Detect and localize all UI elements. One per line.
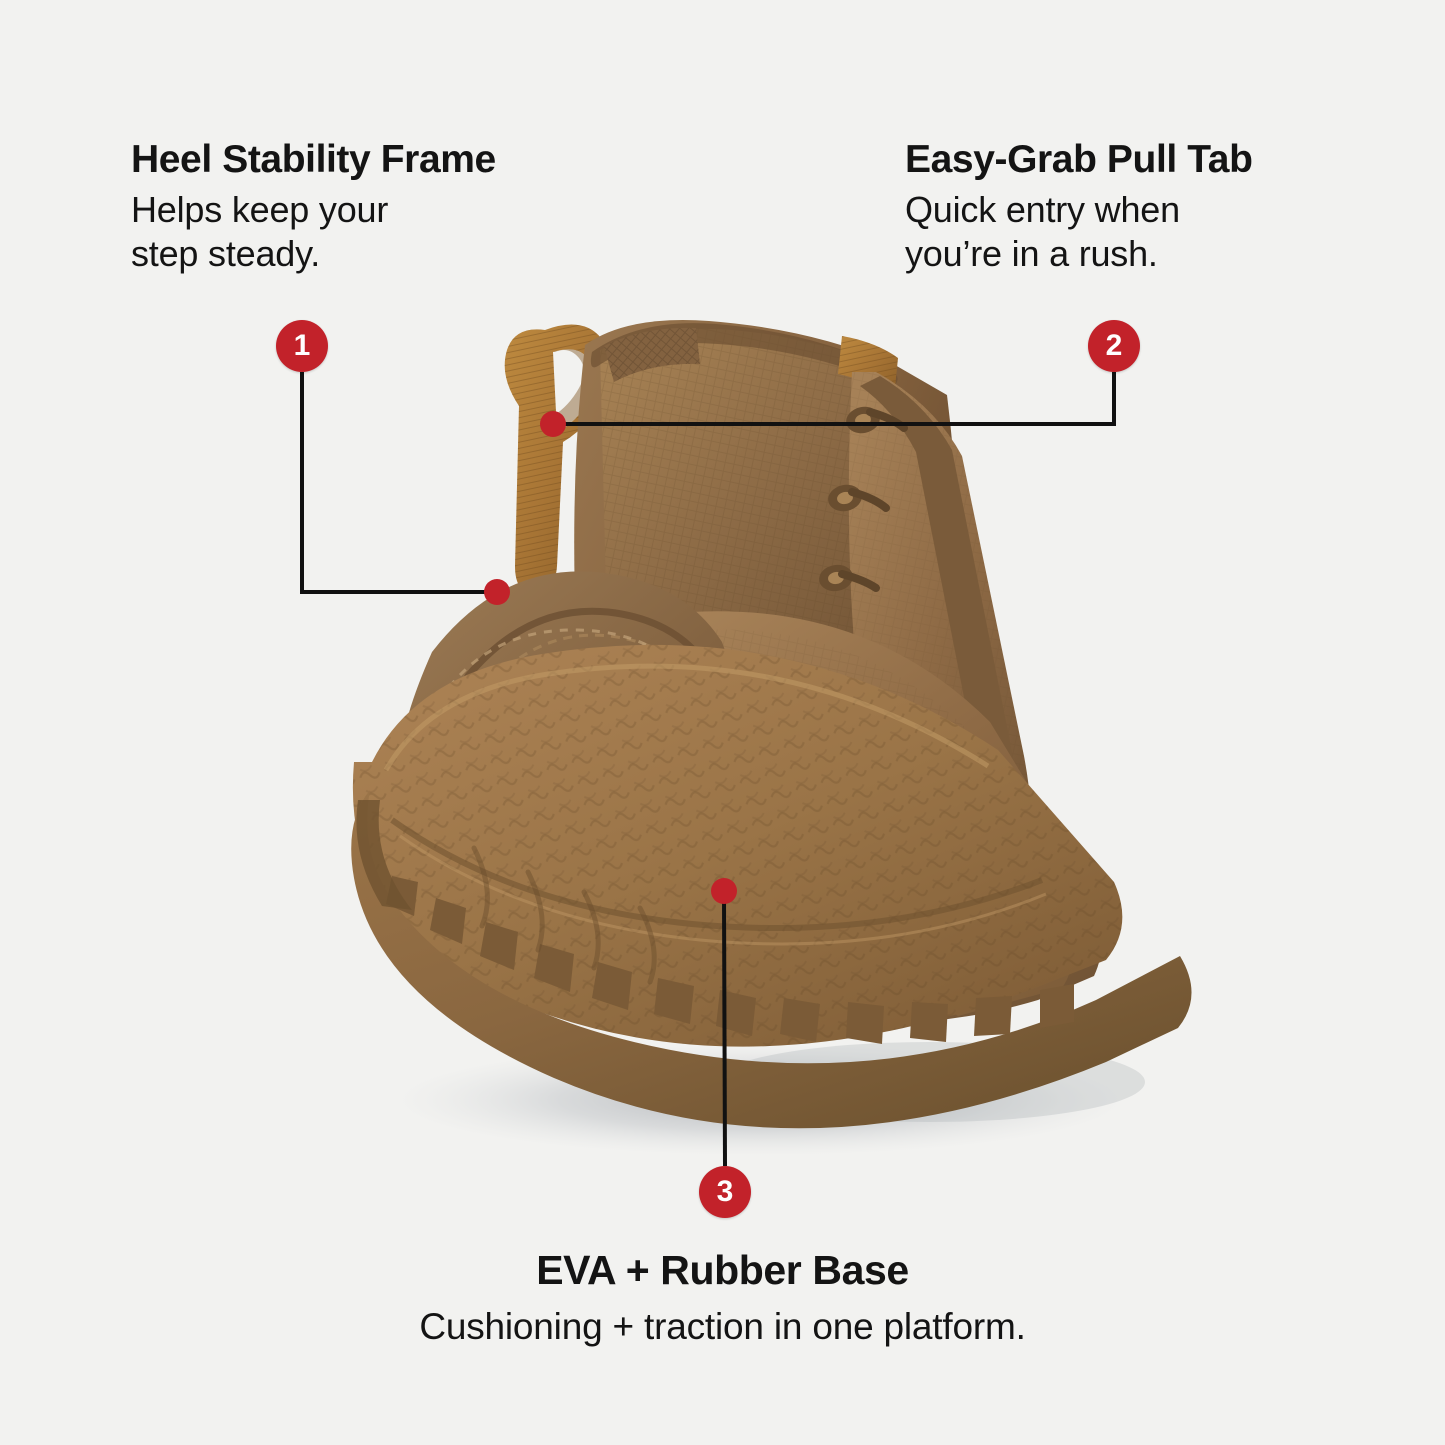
feature-callout-diagram: 1 2 3 Heel Stability Frame Helps keep yo…: [0, 0, 1445, 1445]
callout-marker-3[interactable]: 3: [699, 1166, 751, 1218]
boot-group: [351, 320, 1191, 1128]
callout-marker-2[interactable]: 2: [1088, 320, 1140, 372]
boot-product-image: [0, 0, 1445, 1445]
callout-marker-1[interactable]: 1: [276, 320, 328, 372]
